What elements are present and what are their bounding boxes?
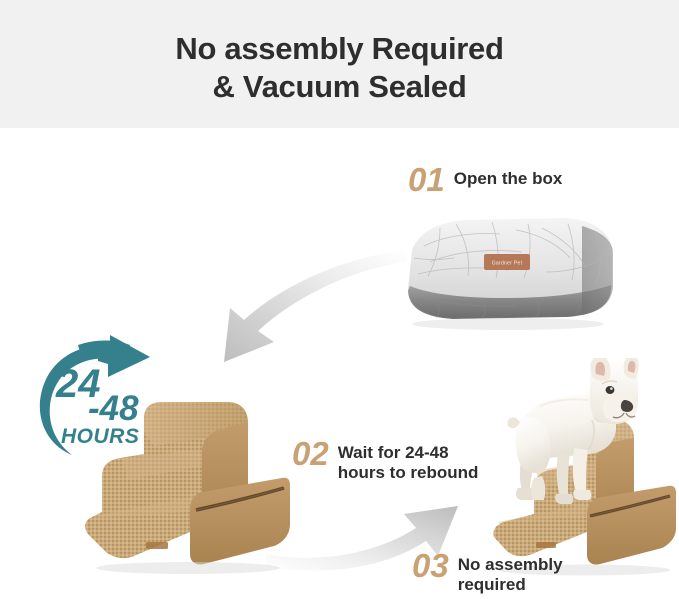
step-01-number: 01 <box>408 163 445 196</box>
curved-arrow-down-left-icon <box>178 246 408 366</box>
pet-stairs-compressed <box>84 392 290 574</box>
step-01-text: Open the box <box>454 163 563 189</box>
step-01: 01 Open the box <box>408 163 562 196</box>
page-title: No assembly Required & Vacuum Sealed <box>0 30 679 106</box>
title-line-1: No assembly Required <box>0 30 679 68</box>
step-02-number: 02 <box>292 437 329 470</box>
stairs-brand-tag <box>146 542 168 549</box>
step-03: 03 No assembly required <box>412 549 563 595</box>
vacuum-sealed-package: Gardner Pet <box>396 214 618 336</box>
step-02: 02 Wait for 24-48 hours to rebound <box>292 437 478 483</box>
svg-text:Gardner Pet: Gardner Pet <box>492 261 523 267</box>
package-label: Gardner Pet <box>484 254 530 270</box>
stairs-brand-tag-right <box>536 542 556 548</box>
title-line-2: & Vacuum Sealed <box>0 68 679 106</box>
step-03-text: No assembly required <box>458 549 563 595</box>
step-03-number: 03 <box>412 549 449 582</box>
step-02-text: Wait for 24-48 hours to rebound <box>338 437 479 483</box>
french-bulldog <box>500 358 640 520</box>
infographic-canvas: No assembly Required & Vacuum Sealed <box>0 0 679 599</box>
